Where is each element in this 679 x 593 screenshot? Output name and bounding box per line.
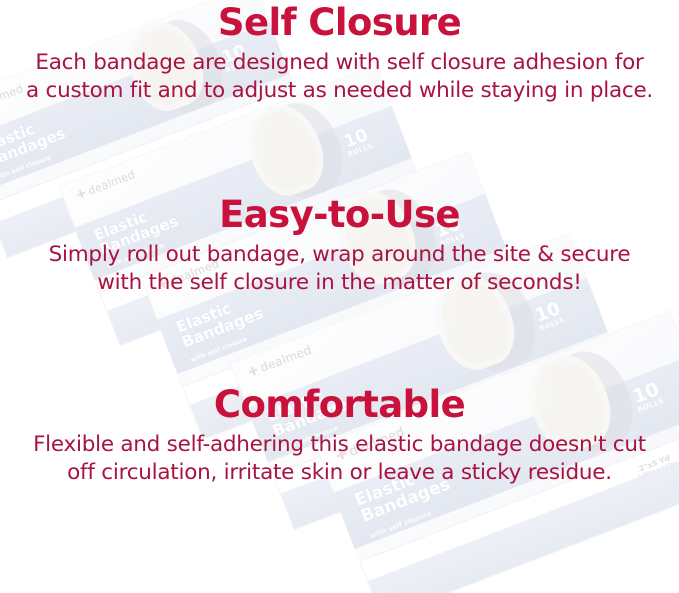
feature-section-comfortable: Comfortable Flexible and self-adhering t… (0, 386, 679, 487)
feature-copy-layer: Self Closure Each bandage are designed w… (0, 0, 679, 593)
feature-section-easy-to-use: Easy-to-Use Simply roll out bandage, wra… (0, 196, 679, 297)
feature-description: Flexible and self-adhering this elastic … (0, 431, 679, 487)
feature-heading: Self Closure (0, 4, 679, 41)
feature-description: Each bandage are designed with self clos… (0, 49, 679, 105)
feature-section-self-closure: Self Closure Each bandage are designed w… (0, 4, 679, 105)
feature-description: Simply roll out bandage, wrap around the… (0, 241, 679, 297)
product-feature-infographic: ✚ dealmed Elastic Bandages with self clo… (0, 0, 679, 593)
feature-heading: Easy-to-Use (0, 196, 679, 233)
feature-heading: Comfortable (0, 386, 679, 423)
